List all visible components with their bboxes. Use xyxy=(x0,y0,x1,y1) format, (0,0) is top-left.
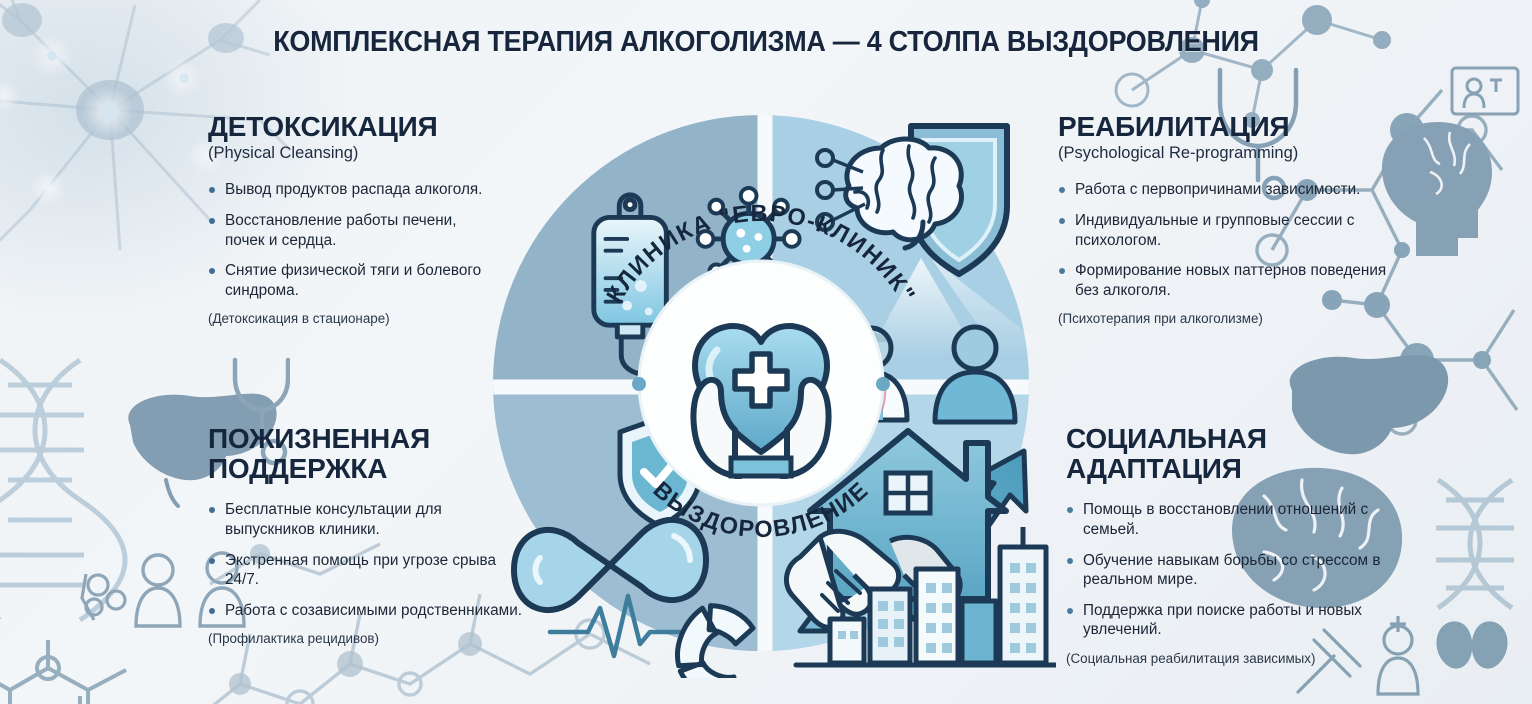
pillar-lifelong-support: ПОЖИЗНЕННАЯ ПОДДЕРЖКА Бесплатные консуль… xyxy=(208,424,528,646)
pillar-detox: ДЕТОКСИКАЦИЯ (Physical Cleansing) Вывод … xyxy=(208,112,498,326)
pillar-detox-subtitle: (Physical Cleansing) xyxy=(208,144,498,164)
pillar-rehab: РЕАБИЛИТАЦИЯ (Psychological Re-programmi… xyxy=(1058,112,1388,326)
kidney-icon xyxy=(1436,621,1507,668)
list-item: Поддержка при поиске работы и новых увле… xyxy=(1066,601,1396,640)
molecule-icon xyxy=(0,640,130,704)
list-item: Работа с первопричинами зависимости. xyxy=(1058,180,1388,200)
pillar-social-adaptation-title-line2: АДАПТАЦИЯ xyxy=(1066,454,1396,484)
badge-dot-left xyxy=(632,377,646,391)
pillar-detox-bullets: Вывод продуктов распада алкоголя. Восста… xyxy=(208,180,498,300)
infographic-canvas: КОМПЛЕКСНАЯ ТЕРАПИЯ АЛКОГОЛИЗМА — 4 СТОЛ… xyxy=(0,0,1532,704)
pillar-lifelong-support-title-line1: ПОЖИЗНЕННАЯ xyxy=(208,424,528,454)
list-item: Бесплатные консультации для выпускников … xyxy=(208,500,528,539)
pill-icon xyxy=(82,574,125,620)
list-item: Помощь в восстановлении отношений с семь… xyxy=(1066,500,1396,539)
pillar-rehab-note: (Психотерапия при алкоголизме) xyxy=(1058,311,1388,326)
list-item: Формирование новых паттернов поведения б… xyxy=(1058,261,1388,300)
list-item: Восстановление работы печени, почек и се… xyxy=(208,211,498,250)
pillar-lifelong-support-note: (Профилактика рецидивов) xyxy=(208,631,528,646)
pillar-rehab-subtitle: (Psychological Re-programming) xyxy=(1058,144,1388,164)
list-item: Вывод продуктов распада алкоголя. xyxy=(208,180,498,200)
list-item: Снятие физической тяги и болевого синдро… xyxy=(208,261,498,300)
dna-helix-icon xyxy=(1436,480,1514,608)
doctor-icons xyxy=(1452,68,1518,114)
pillar-detox-note: (Детоксикация в стационаре) xyxy=(208,311,498,326)
pillar-social-adaptation-note: (Социальная реабилитация зависимых) xyxy=(1066,651,1396,666)
pillar-lifelong-support-title-line2: ПОДДЕРЖКА xyxy=(208,454,528,484)
dna-helix-icon xyxy=(0,360,125,620)
pillar-lifelong-support-bullets: Бесплатные консультации для выпускников … xyxy=(208,500,528,620)
pillar-rehab-title: РЕАБИЛИТАЦИЯ xyxy=(1058,112,1388,142)
list-item: Работа с созависимыми родственниками. xyxy=(208,601,528,621)
pillar-social-adaptation: СОЦИАЛЬНАЯ АДАПТАЦИЯ Помощь в восстановл… xyxy=(1066,424,1396,666)
list-item: Обучение навыкам борьбы со стрессом в ре… xyxy=(1066,551,1396,590)
brain-icon xyxy=(1382,122,1492,256)
pillar-rehab-bullets: Работа с первопричинами зависимости. Инд… xyxy=(1058,180,1388,300)
list-item: Индивидуальные и групповые сессии с псих… xyxy=(1058,211,1388,250)
heart-in-hands-with-cross-icon xyxy=(693,326,828,476)
badge-dot-right xyxy=(876,377,890,391)
pillar-detox-title: ДЕТОКСИКАЦИЯ xyxy=(208,112,498,142)
pillar-social-adaptation-bullets: Помощь в восстановлении отношений с семь… xyxy=(1066,500,1396,639)
central-cycle-diagram: КЛИНИКА "ЕВРО-КЛИНИК" ВЫЗДОРОВЛЕНИЕ xyxy=(466,88,1056,678)
page-title: КОМПЛЕКСНАЯ ТЕРАПИЯ АЛКОГОЛИЗМА — 4 СТОЛ… xyxy=(54,26,1479,59)
pillar-social-adaptation-title-line1: СОЦИАЛЬНАЯ xyxy=(1066,424,1396,454)
list-item: Экстренная помощь при угрозе срыва 24/7. xyxy=(208,551,528,590)
